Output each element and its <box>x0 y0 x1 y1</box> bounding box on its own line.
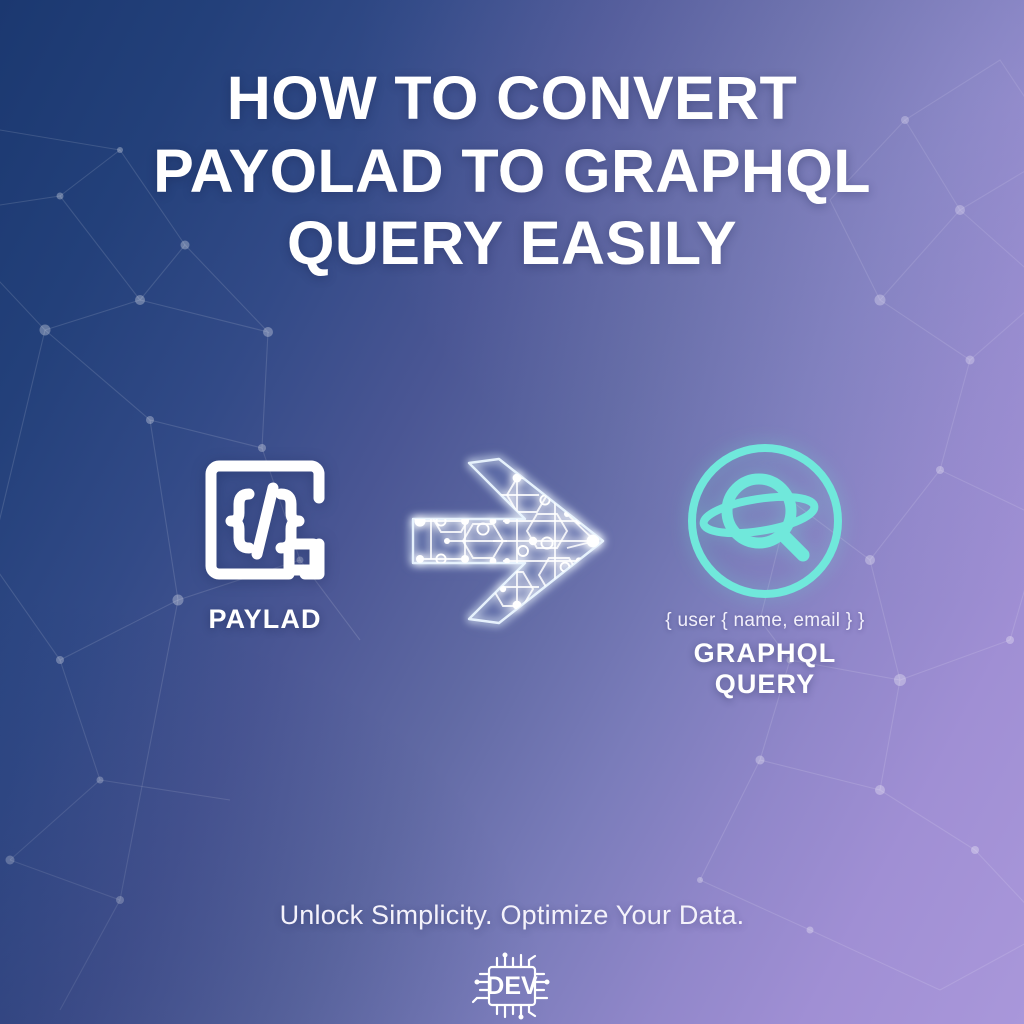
graphql-planet-search-icon <box>681 437 849 605</box>
payload-icon-container <box>150 436 380 604</box>
flow-item-graphql: { user { name, email } } GRAPHQL QUERY <box>640 432 890 700</box>
code-brackets-icon <box>189 444 341 596</box>
arrow-icon-container <box>390 446 634 636</box>
graphql-label: GRAPHQL QUERY <box>640 638 890 700</box>
payload-label: PAYLAD <box>150 604 380 635</box>
flow-connector <box>390 446 634 636</box>
conversion-flow-row: PAYLAD <box>0 436 1024 686</box>
brand-logo: DEV <box>0 952 1024 1020</box>
graphql-icon-container <box>640 432 890 610</box>
infographic-canvas: HOW TO CONVERT PAYOLAD TO GRAPHQL QUERY … <box>0 0 1024 1024</box>
title-line-2: PAYOLAD TO GRAPHQL <box>60 135 964 208</box>
title-line-3: QUERY EASILY <box>60 207 964 280</box>
page-title: HOW TO CONVERT PAYOLAD TO GRAPHQL QUERY … <box>0 62 1024 280</box>
microchip-icon: DEV <box>466 952 558 1020</box>
tagline: Unlock Simplicity. Optimize Your Data. <box>0 900 1024 931</box>
title-line-1: HOW TO CONVERT <box>60 62 964 135</box>
brand-text: DEV <box>486 972 538 1000</box>
flow-item-payload: PAYLAD <box>150 436 380 635</box>
circuit-arrow-right-icon <box>407 455 617 627</box>
graphql-query-snippet: { user { name, email } } <box>640 610 890 632</box>
